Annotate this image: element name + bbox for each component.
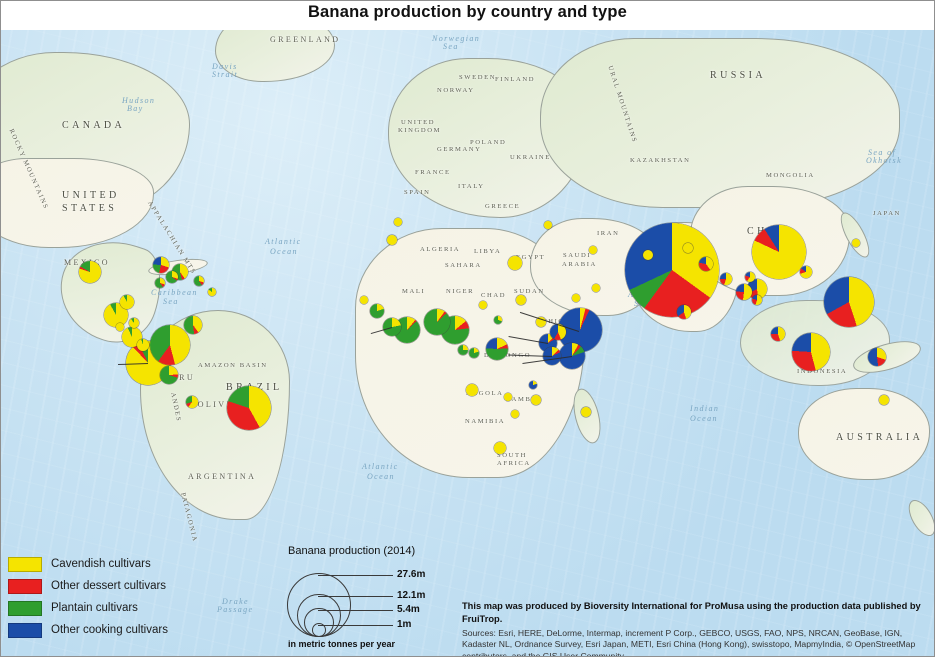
pie-symbol[interactable] <box>466 384 478 396</box>
pie-symbol[interactable] <box>120 295 134 309</box>
map-label: KAZAKHSTAN <box>630 157 691 164</box>
map-label: FINLAND <box>495 76 535 83</box>
title-bar: Banana production by country and type <box>0 0 935 30</box>
pie-symbol[interactable] <box>150 325 190 365</box>
pie-symbol[interactable] <box>824 277 874 327</box>
legend-label: Cavendish cultivars <box>51 558 151 570</box>
pie-symbol[interactable] <box>208 288 216 296</box>
pie-symbol[interactable] <box>184 316 202 334</box>
map-label: UNITED <box>62 190 120 201</box>
pie-symbol[interactable] <box>592 284 600 292</box>
map-label: NAMIBIA <box>465 418 505 425</box>
legend-label: Other dessert cultivars <box>51 580 166 592</box>
pie-symbol[interactable] <box>511 410 519 418</box>
map-label: Ocean <box>270 247 298 256</box>
map-label: LIBYA <box>474 248 501 255</box>
size-legend-leader <box>318 575 393 576</box>
map-label: SPAIN <box>404 189 430 196</box>
pie-symbol[interactable] <box>720 273 732 285</box>
pie-symbol[interactable] <box>516 295 526 305</box>
map-label: NORWAY <box>437 87 475 94</box>
pie-symbol[interactable] <box>394 218 402 226</box>
map-label: AMAZON BASIN <box>198 362 268 369</box>
size-legend-label: 1m <box>397 619 411 630</box>
map-label: ALGERIA <box>420 246 460 253</box>
page-title: Banana production by country and type <box>0 3 935 22</box>
size-legend-title: Banana production (2014) <box>288 545 415 557</box>
land-eurasia <box>540 38 900 208</box>
map-label: Strait <box>212 70 238 79</box>
map-label: CHAD <box>481 292 506 299</box>
legend-item-1[interactable]: Other dessert cultivars <box>8 575 168 597</box>
pie-symbol[interactable] <box>155 278 165 288</box>
map-label: GERMANY <box>437 146 482 153</box>
map-label: MALI <box>402 288 425 295</box>
map-label: ARABIA <box>562 261 597 268</box>
map-label: POLAND <box>470 139 506 146</box>
legend-swatch <box>8 579 42 594</box>
pie-symbol[interactable] <box>792 333 830 371</box>
size-legend-leader <box>318 610 393 611</box>
map-label: FRANCE <box>415 169 451 176</box>
map-label: Sea <box>163 297 179 306</box>
pie-symbol[interactable] <box>879 395 889 405</box>
map-label: CANADA <box>62 120 125 131</box>
pie-symbol[interactable] <box>458 345 468 355</box>
pie-symbol[interactable] <box>504 393 512 401</box>
legend-swatch <box>8 623 42 638</box>
pie-symbol[interactable] <box>186 396 198 408</box>
map-label: RUSSIA <box>710 70 766 81</box>
map-label: UKRAINE <box>510 154 551 161</box>
pie-symbol[interactable] <box>852 239 860 247</box>
map-label: AFRICA <box>497 460 531 467</box>
pie-symbol[interactable] <box>771 327 785 341</box>
pie-symbol[interactable] <box>544 221 552 229</box>
pie-symbol[interactable] <box>486 338 508 360</box>
pie-symbol[interactable] <box>683 243 693 253</box>
pie-symbol[interactable] <box>677 305 691 319</box>
size-legend-leader <box>318 596 393 597</box>
map-label: Indian <box>690 404 719 413</box>
map-label: NIGER <box>446 288 474 295</box>
map-label: SWEDEN <box>459 74 496 81</box>
pie-symbol[interactable] <box>800 266 812 278</box>
pie-symbol[interactable] <box>699 257 713 271</box>
map-label: SAUDI <box>563 252 591 259</box>
map-label: AUSTRALIA <box>836 432 923 443</box>
pie-symbol[interactable] <box>589 246 597 254</box>
map-label: GREENLAND <box>270 35 340 44</box>
size-legend-label: 27.6m <box>397 569 425 580</box>
map-label: GREECE <box>485 203 520 210</box>
legend-item-2[interactable]: Plantain cultivars <box>8 597 168 619</box>
map-label: MONGOLIA <box>766 172 815 179</box>
map-screenshot: CANADAUNITEDSTATESMEXICOBRAZILPERUBOLIVI… <box>0 0 935 657</box>
pie-symbol[interactable] <box>387 235 397 245</box>
legend-item-3[interactable]: Other cooking cultivars <box>8 619 168 641</box>
size-legend: Banana production (2014) 27.6m12.1m5.4m1… <box>288 545 463 653</box>
pie-symbol[interactable] <box>79 261 101 283</box>
map-label: Atlantic <box>265 237 302 246</box>
credit-main-text: This map was produced by Bioversity Inte… <box>462 600 930 625</box>
map-label: Atlantic <box>362 462 399 471</box>
map-label: STATES <box>62 203 117 214</box>
map-label: Okhotsk <box>866 156 902 165</box>
pie-symbol[interactable] <box>116 323 124 331</box>
map-label: ARGENTINA <box>188 472 256 481</box>
pie-symbol[interactable] <box>508 256 522 270</box>
pie-symbol[interactable] <box>370 304 384 318</box>
map-label: ITALY <box>458 183 485 190</box>
map-label: Passage <box>217 605 253 614</box>
pie-symbol[interactable] <box>752 225 806 279</box>
pie-symbol[interactable] <box>479 301 487 309</box>
map-label: IRAN <box>597 230 620 237</box>
legend-label: Other cooking cultivars <box>51 624 168 636</box>
pie-symbol[interactable] <box>581 407 591 417</box>
pie-symbol[interactable] <box>494 442 506 454</box>
pie-symbol[interactable] <box>572 294 580 302</box>
map-label: Caribbean <box>151 288 198 297</box>
pie-symbol[interactable] <box>868 348 886 366</box>
size-legend-label: 5.4m <box>397 604 420 615</box>
pie-symbol[interactable] <box>360 296 368 304</box>
pie-symbol[interactable] <box>745 272 755 282</box>
pie-symbol[interactable] <box>166 271 178 283</box>
credit-sources-text: Sources: Esri, HERE, DeLorme, Intermap, … <box>462 628 930 657</box>
pie-symbol[interactable] <box>736 284 752 300</box>
legend-item-0[interactable]: Cavendish cultivars <box>8 553 168 575</box>
map-label: SAHARA <box>445 262 482 269</box>
map-label: Bay <box>127 104 144 113</box>
legend-swatch <box>8 557 42 572</box>
size-legend-leader <box>318 625 393 626</box>
pie-symbol[interactable] <box>153 257 169 273</box>
size-legend-footer: in metric tonnes per year <box>288 639 395 649</box>
pie-symbol[interactable] <box>494 316 502 324</box>
pie-symbol[interactable] <box>129 318 139 328</box>
map-label: JAPAN <box>873 210 901 217</box>
pie-symbol[interactable] <box>194 276 204 286</box>
pie-symbol[interactable] <box>752 295 762 305</box>
map-label: Ocean <box>367 472 395 481</box>
size-legend-label: 12.1m <box>397 590 425 601</box>
map-label: Sea <box>443 42 459 51</box>
map-label: SUDAN <box>514 288 545 295</box>
legend-label: Plantain cultivars <box>51 602 138 614</box>
map-label: KINGDOM <box>398 127 441 134</box>
pie-symbol[interactable] <box>137 339 149 351</box>
map-label: UNITED <box>401 119 435 126</box>
pie-symbol[interactable] <box>424 309 450 335</box>
pie-symbol[interactable] <box>160 366 178 384</box>
credits-block: This map was produced by Bioversity Inte… <box>462 600 930 657</box>
pie-symbol[interactable] <box>227 386 271 430</box>
pie-symbol[interactable] <box>469 348 479 358</box>
pie-symbol[interactable] <box>643 250 653 260</box>
cultivar-legend: Cavendish cultivarsOther dessert cultiva… <box>8 553 168 641</box>
pie-symbol[interactable] <box>531 395 541 405</box>
pie-symbol[interactable] <box>529 381 537 389</box>
map-label: Ocean <box>690 414 718 423</box>
legend-swatch <box>8 601 42 616</box>
